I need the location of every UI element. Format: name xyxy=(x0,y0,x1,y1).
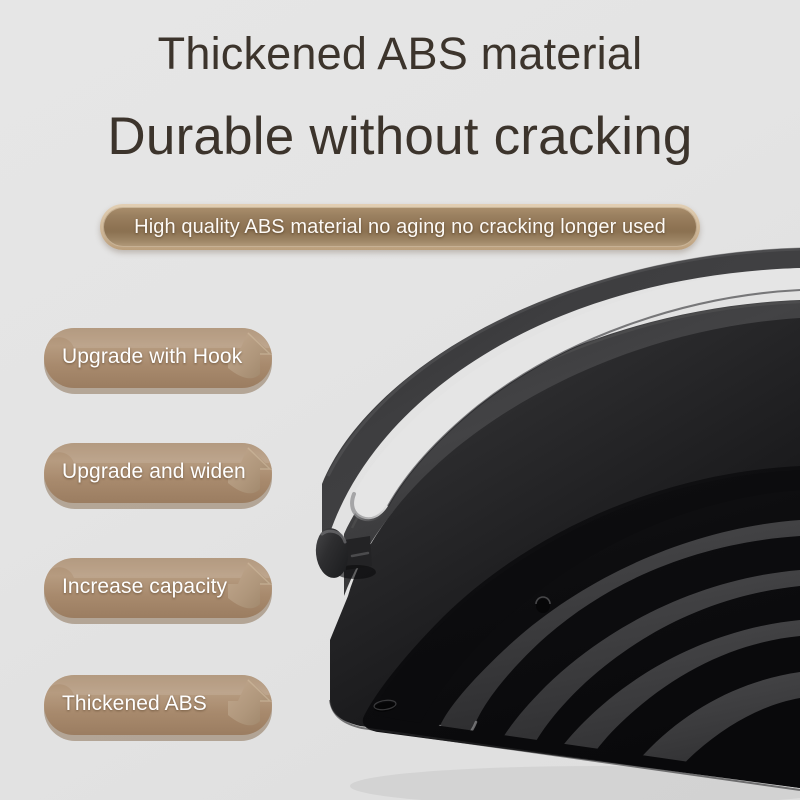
inner-rim-band xyxy=(344,300,800,596)
feature-label-text: Upgrade with Hook xyxy=(62,326,242,388)
feature-label-thickened-abs: Thickened ABS xyxy=(42,673,292,743)
drain-hole-upper xyxy=(536,597,550,613)
product-shadow xyxy=(350,766,800,800)
headline-primary: Thickened ABS material xyxy=(0,26,800,82)
basin-base xyxy=(363,466,800,788)
rim-slot xyxy=(352,268,800,519)
drain-hole xyxy=(373,699,396,713)
feature-label-upgrade-and-widen: Upgrade and widen xyxy=(42,441,292,511)
product-marketing-image: Thickened ABS material Durable without c… xyxy=(0,0,800,800)
side-knob-hook xyxy=(313,526,376,579)
feature-label-text: Increase capacity xyxy=(62,556,227,618)
base-front-edge xyxy=(330,700,800,790)
headline-secondary: Durable without cracking xyxy=(0,104,800,170)
feature-label-text: Thickened ABS xyxy=(62,673,207,735)
outer-rim-band xyxy=(322,248,800,560)
feature-label-upgrade-with-hook: Upgrade with Hook xyxy=(42,326,292,396)
basin-shading xyxy=(370,466,800,724)
feature-label-increase-capacity: Increase capacity xyxy=(42,556,292,626)
subtitle-banner-inner: High quality ABS material no aging no cr… xyxy=(103,207,697,247)
subtitle-banner: High quality ABS material no aging no cr… xyxy=(100,204,700,250)
shelf-wall xyxy=(330,318,800,788)
feature-label-text: Upgrade and widen xyxy=(62,441,246,503)
drainage-ribs xyxy=(439,520,800,800)
subtitle-banner-text: High quality ABS material no aging no cr… xyxy=(134,216,666,239)
